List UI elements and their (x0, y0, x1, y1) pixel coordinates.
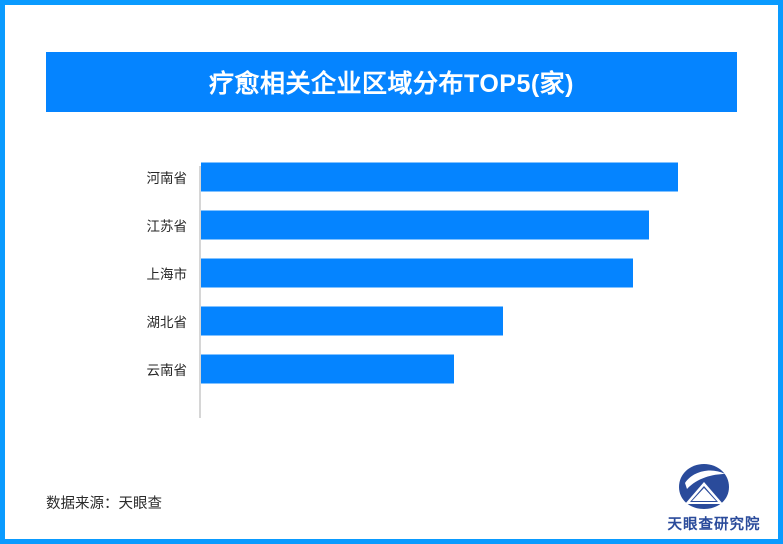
chart-title-banner: 疗愈相关企业区域分布TOP5(家) (46, 52, 737, 112)
page-title: 疗愈相关企业区域分布TOP5(家) (209, 64, 574, 100)
bar-track (201, 211, 649, 240)
bar-value-0 (201, 163, 678, 192)
bar-category-label: 上海市 (147, 263, 188, 283)
bar-track (201, 259, 633, 288)
bar-value-3 (201, 307, 503, 336)
bar-row: 湖北省 (5, 297, 783, 345)
bar-value-2 (201, 259, 633, 288)
bar-category-label: 湖北省 (147, 311, 188, 331)
bar-chart: 河南省 江苏省 上海市 湖北省 云南省 (5, 153, 783, 418)
brand-logo: 天眼查研究院 (655, 463, 775, 538)
bar-value-1 (201, 211, 649, 240)
brand-logo-text: 天眼查研究院 (655, 513, 773, 534)
bar-category-label: 云南省 (147, 359, 188, 379)
chart-canvas: 疗愈相关企业区域分布TOP5(家) 河南省 江苏省 上海市 湖北省 (0, 0, 783, 544)
bar-row: 云南省 (5, 345, 783, 393)
bar-category-label: 河南省 (147, 167, 188, 187)
bar-track (201, 163, 678, 192)
bar-track (201, 307, 503, 336)
bar-category-label: 江苏省 (147, 215, 188, 235)
data-source-note: 数据来源：天眼查 (46, 492, 162, 513)
bar-value-4 (201, 355, 454, 384)
bar-track (201, 355, 454, 384)
bar-row: 上海市 (5, 249, 783, 297)
eye-logo-icon (677, 463, 731, 511)
bar-row: 江苏省 (5, 201, 783, 249)
bar-row: 河南省 (5, 153, 783, 201)
